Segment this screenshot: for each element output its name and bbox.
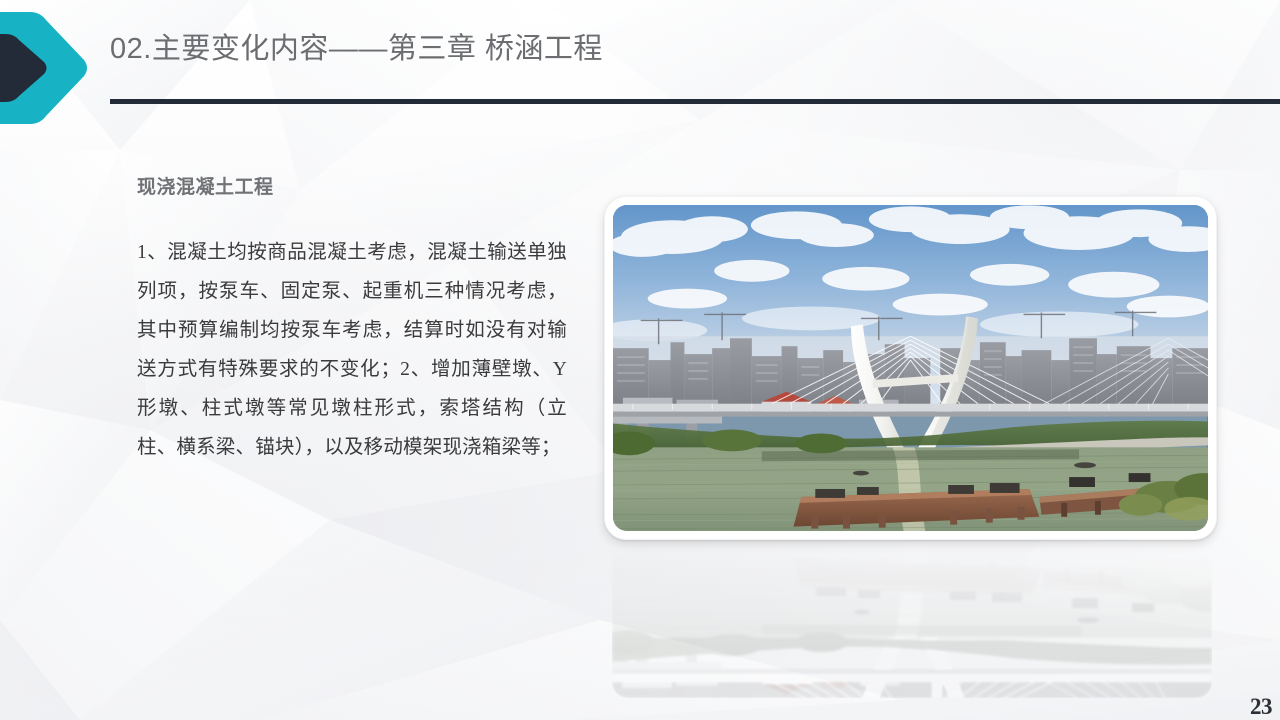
photo-frame [604,196,1217,540]
slide: 02.主要变化内容——第三章 桥涵工程 现浇混凝土工程 1、混凝土均按商品混凝土… [0,0,1280,720]
photo-reflection [612,548,1212,698]
photo-container[interactable] [604,196,1217,540]
title-divider [110,99,1280,104]
chevron-right-icon [0,12,90,124]
section-subheading: 现浇混凝土工程 [137,172,567,199]
page-number: 23 [1250,694,1272,720]
page-title: 02.主要变化内容——第三章 桥涵工程 [110,33,603,66]
content-text-column: 现浇混凝土工程 1、混凝土均按商品混凝土考虑，混凝土输送单独列项，按泵车、固定泵… [137,172,567,467]
section-body-text: 1、混凝土均按商品混凝土考虑，混凝土输送单独列项，按泵车、固定泵、起重机三种情况… [137,233,567,467]
bridge-photo[interactable] [613,205,1208,531]
